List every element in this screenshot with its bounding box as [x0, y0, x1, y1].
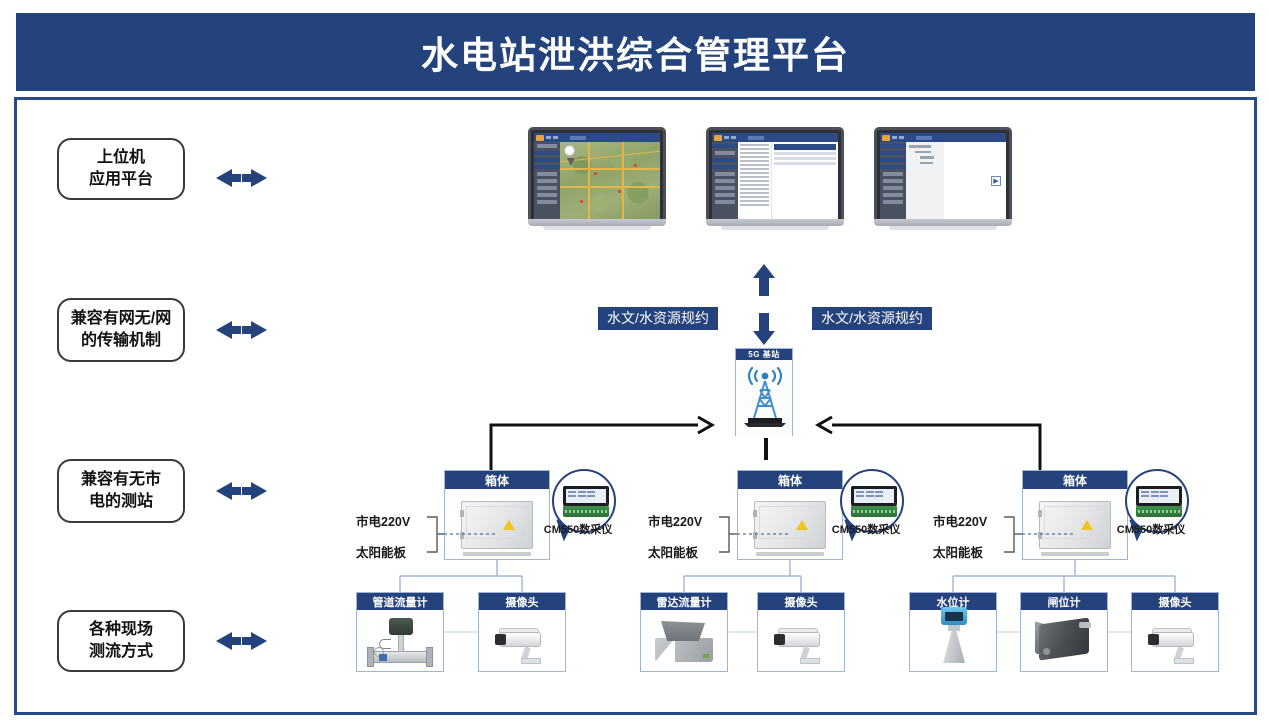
device-image-camera-icon — [758, 610, 844, 671]
laptop-base — [874, 219, 1012, 226]
play-icon[interactable]: ▶ — [991, 176, 1001, 186]
app-logo-icon — [882, 135, 890, 141]
laptop-foot — [543, 226, 651, 230]
category-label-line2: 应用平台 — [89, 169, 153, 191]
category-label-line2: 测流方式 — [89, 641, 153, 663]
device-card-pipeline-flow-meter: 管道流量计 — [356, 592, 444, 672]
tower-antenna-icon — [736, 360, 794, 432]
base-station-card: 5G 基站 — [735, 348, 793, 436]
device-image-camera-icon — [1132, 610, 1218, 671]
category-label-line1: 兼容有无市 — [81, 469, 161, 491]
app-sidebar — [534, 142, 560, 219]
cabinet-title: 箱体 — [738, 471, 842, 489]
laptop-foot — [721, 226, 829, 230]
laptop-base — [706, 219, 844, 226]
laptop-lid: ▶ — [874, 127, 1012, 219]
app-logo-icon — [536, 135, 544, 141]
power-mains-label-right: 市电220V — [933, 511, 987, 530]
category-label-line2: 的传输机制 — [71, 330, 171, 352]
map-panel — [560, 142, 660, 219]
satellite-map — [560, 142, 660, 219]
diagram-page: 水电站泄洪综合管理平台 上位机 应用平台 兼容有网无/网 的传输机制 兼容有无市… — [0, 0, 1269, 728]
device-title: 摄像头 — [479, 593, 565, 610]
list-panel — [738, 142, 838, 219]
app-sidebar — [880, 142, 906, 219]
device-image-radar-flow-icon — [641, 610, 727, 671]
laptop-tree-view: ▶ — [874, 127, 1012, 230]
page-header: 水电站泄洪综合管理平台 — [14, 11, 1257, 93]
app-topbar — [880, 133, 1006, 142]
power-mains-label-left: 市电220V — [356, 511, 410, 530]
cabinet-card-left: 箱体 — [444, 470, 550, 560]
device-image-pipe-flow-icon — [357, 610, 443, 671]
device-image-camera-icon — [479, 610, 565, 671]
warning-triangle-icon — [503, 520, 515, 530]
power-solar-label-left: 太阳能板 — [356, 542, 406, 561]
map-zoom-control[interactable] — [564, 145, 575, 156]
laptop-lid — [706, 127, 844, 219]
list-table — [772, 142, 838, 219]
device-title: 摄像头 — [758, 593, 844, 610]
cabinet-title: 箱体 — [1023, 471, 1127, 489]
protocol-label-left: 水文/水资源规约 — [598, 307, 718, 330]
device-card-water-level-meter: 水位计 — [909, 592, 997, 672]
tree-navigator — [906, 142, 944, 219]
device-title: 闸位计 — [1021, 593, 1107, 610]
tree-detail-pane: ▶ — [944, 142, 1006, 219]
category-label-line1: 上位机 — [89, 147, 153, 169]
laptop-base — [528, 219, 666, 226]
device-card-camera-left: 摄像头 — [478, 592, 566, 672]
page-title: 水电站泄洪综合管理平台 — [421, 25, 850, 79]
device-card-camera-middle: 摄像头 — [757, 592, 845, 672]
warning-triangle-icon — [1081, 520, 1093, 530]
device-title: 管道流量计 — [357, 593, 443, 610]
device-image-water-level-icon — [910, 610, 996, 671]
laptop-screen: ▶ — [880, 133, 1006, 219]
list-left-column — [738, 142, 772, 219]
laptop-lid — [528, 127, 666, 219]
laptop-screen — [712, 133, 838, 219]
collector-caption-right: CM550数采仪 — [1096, 521, 1206, 537]
app-topbar — [712, 133, 838, 142]
tree-panel: ▶ — [906, 142, 1006, 219]
power-mains-label-middle: 市电220V — [648, 511, 702, 530]
laptop-foot — [889, 226, 997, 230]
category-label-line2: 电的测站 — [81, 491, 161, 513]
protocol-label-right: 水文/水资源规约 — [812, 307, 932, 330]
category-transmission-mechanism[interactable]: 兼容有网无/网 的传输机制 — [57, 298, 185, 362]
cabinet-title: 箱体 — [445, 471, 549, 489]
app-sidebar — [712, 142, 738, 219]
category-station-power[interactable]: 兼容有无市 电的测站 — [57, 459, 185, 523]
device-image-gate-position-icon — [1021, 610, 1107, 671]
power-solar-label-right: 太阳能板 — [933, 542, 983, 561]
device-card-radar-flow-meter: 雷达流量计 — [640, 592, 728, 672]
category-label-line1: 兼容有网无/网 — [71, 308, 171, 330]
device-title: 摄像头 — [1132, 593, 1218, 610]
laptop-map-view — [528, 127, 666, 230]
category-field-measurement[interactable]: 各种现场 测流方式 — [57, 610, 185, 672]
map-pan-arrow-icon[interactable] — [567, 158, 575, 166]
cabinet-card-middle: 箱体 — [737, 470, 843, 560]
list-secondary-button[interactable] — [809, 145, 821, 150]
app-logo-icon — [714, 135, 722, 141]
device-card-camera-right: 摄像头 — [1131, 592, 1219, 672]
laptop-list-view — [706, 127, 844, 230]
collector-caption-left: CM550数采仪 — [523, 521, 633, 537]
category-label-line1: 各种现场 — [89, 619, 153, 641]
category-upper-computer-platform[interactable]: 上位机 应用平台 — [57, 138, 185, 200]
collector-caption-middle: CM550数采仪 — [811, 521, 921, 537]
device-card-gate-position-meter: 闸位计 — [1020, 592, 1108, 672]
base-station-title: 5G 基站 — [736, 349, 792, 360]
base-station-icon — [736, 360, 792, 437]
app-topbar — [534, 133, 660, 142]
device-title: 雷达流量计 — [641, 593, 727, 610]
list-action-button[interactable] — [823, 145, 835, 150]
power-solar-label-middle: 太阳能板 — [648, 542, 698, 561]
warning-triangle-icon — [796, 520, 808, 530]
cabinet-card-right: 箱体 — [1022, 470, 1128, 560]
laptop-screen — [534, 133, 660, 219]
